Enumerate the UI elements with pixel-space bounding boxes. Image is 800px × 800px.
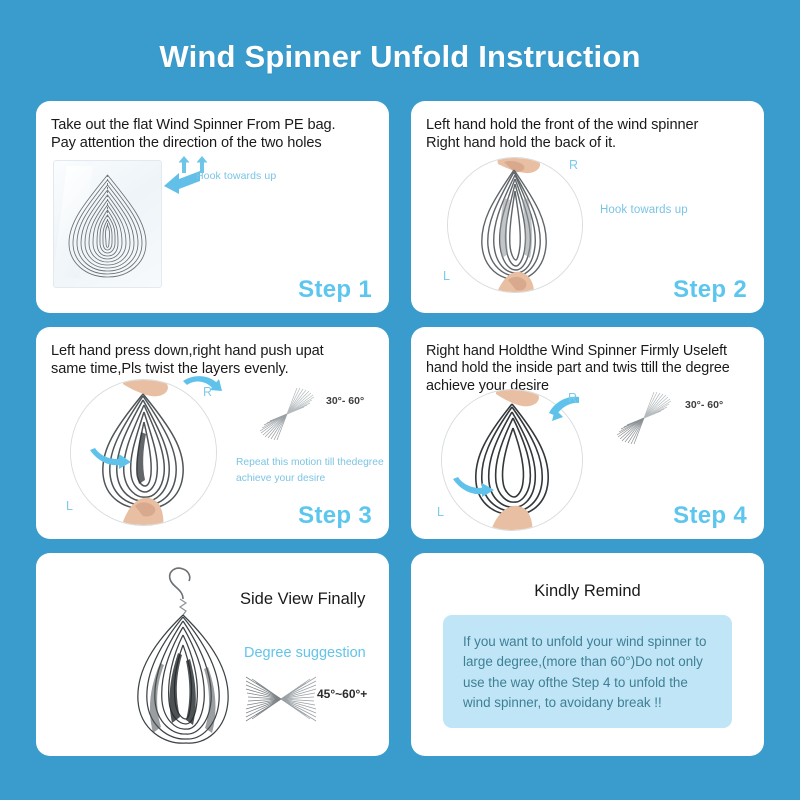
side-view-spinner-illustration	[120, 563, 246, 756]
step-4-degree-label: 30°- 60°	[685, 399, 723, 411]
step-4-degree-fan-icon	[611, 387, 677, 454]
step-3-repeat-note: Repeat this motion till thedegree achiev…	[236, 455, 386, 487]
kindly-remind-title: Kindly Remind	[411, 582, 764, 601]
step-card-1: Take out the flat Wind Spinner From PE b…	[36, 101, 389, 313]
motion-arrow-top-icon	[181, 375, 223, 410]
step-1-label: Step 1	[298, 276, 372, 304]
side-view-title: Side View Finally	[240, 590, 365, 609]
step-2-left-marker: L	[443, 269, 450, 283]
pe-bag-photo	[53, 160, 162, 288]
step-2-label: Step 2	[673, 276, 747, 304]
side-view-card: Side View Finally Degree suggestion	[36, 553, 389, 756]
step-3-degree-label: 30°- 60°	[326, 395, 364, 407]
step-2-right-marker: R	[569, 158, 578, 172]
degree-bowtie-icon	[242, 671, 320, 732]
step-3-left-marker: L	[66, 499, 73, 513]
flat-spinner-illustration	[54, 161, 161, 287]
kindly-remind-box: If you want to unfold your wind spinner …	[443, 615, 732, 728]
step-2-photo	[447, 157, 583, 293]
step-1-hook-note: Hook towards up	[196, 170, 276, 182]
step-2-instruction: Left hand hold the front of the wind spi…	[426, 117, 752, 152]
step-4-left-marker: L	[437, 505, 444, 519]
motion-arrow-bottom-icon	[88, 446, 132, 481]
step-3-label: Step 3	[298, 502, 372, 530]
step-1-instruction: Take out the flat Wind Spinner From PE b…	[51, 117, 377, 152]
step-4-right-marker: R	[568, 391, 577, 405]
step-2-hook-note: Hook towards up	[600, 204, 688, 216]
twist-arrow-bottom-icon	[451, 475, 495, 508]
kindly-remind-card: Kindly Remind If you want to unfold your…	[411, 553, 764, 756]
step-card-2: Left hand hold the front of the wind spi…	[411, 101, 764, 313]
page-title: Wind Spinner Unfold Instruction	[0, 0, 800, 72]
degree-suggestion-label: Degree suggestion	[244, 645, 366, 661]
step-4-instruction: Right hand Holdthe Wind Spinner Firmly U…	[426, 343, 752, 395]
step-3-degree-fan-icon	[254, 383, 320, 450]
step-3-instruction: Left hand press down,right hand push upa…	[51, 343, 377, 378]
kindly-remind-body: If you want to unfold your wind spinner …	[463, 632, 718, 714]
step-card-4: Right hand Holdthe Wind Spinner Firmly U…	[411, 327, 764, 539]
step-card-3: Left hand press down,right hand push upa…	[36, 327, 389, 539]
step-4-label: Step 4	[673, 502, 747, 530]
instruction-grid: Take out the flat Wind Spinner From PE b…	[36, 101, 764, 756]
step-3-right-marker: R	[203, 385, 212, 399]
side-view-degree-value: 45°~60°+	[317, 687, 367, 701]
